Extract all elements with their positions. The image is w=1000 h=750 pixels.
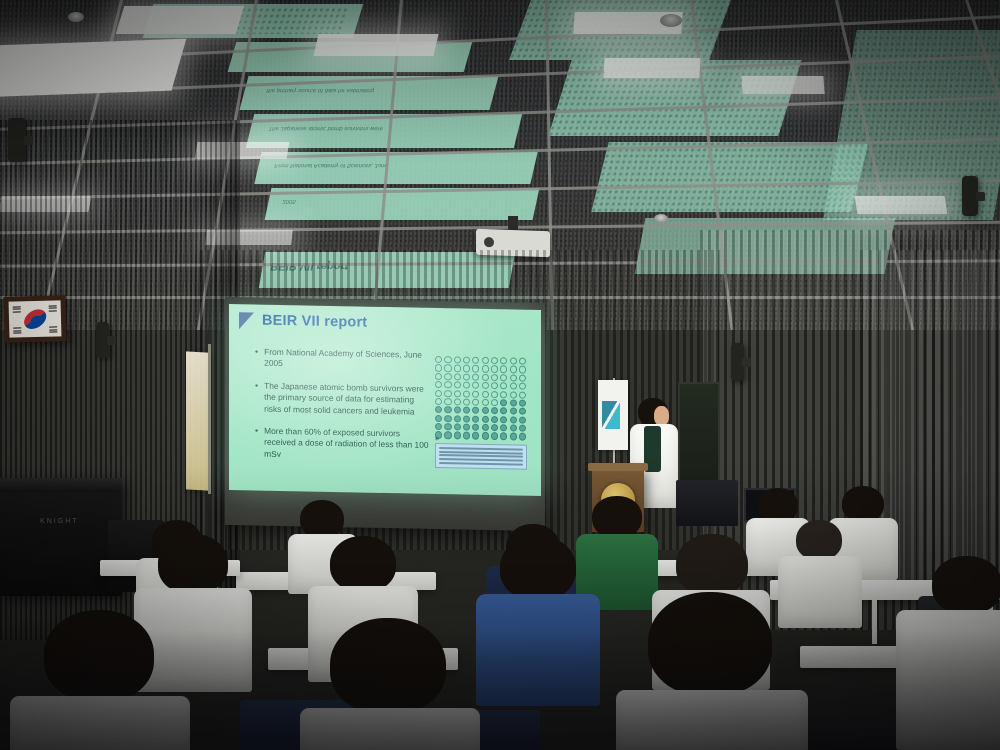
podium-flag: [598, 380, 628, 450]
figure-dot-open: [491, 357, 498, 364]
figure-dot-open: [444, 373, 451, 380]
trigram-bottom-right: [49, 327, 57, 332]
bullet-marker: •: [255, 347, 258, 370]
figure-dot-filled: [463, 415, 470, 422]
figure-dot-open: [510, 383, 517, 390]
bullet-text: From National Academy of Sciences, June …: [264, 347, 430, 373]
audience-head: [758, 488, 798, 522]
figure-dot-filled: [435, 406, 442, 413]
figure-dot-open: [454, 398, 461, 405]
figure-dot-open: [491, 374, 498, 381]
figure-dot-open: [491, 391, 498, 398]
av-equipment-rack: [676, 480, 738, 526]
presenter-face: [654, 406, 669, 426]
figure-dot-filled: [472, 415, 479, 422]
audience-torso: [616, 690, 808, 750]
figure-dot-filled: [500, 433, 507, 440]
audience-head: [796, 520, 842, 560]
figure-dot-open: [491, 382, 498, 389]
figure-dot-open: [519, 358, 526, 365]
figure-dot-open: [454, 356, 461, 363]
figure-dot-filled: [482, 424, 489, 431]
figure-dot-open: [435, 389, 442, 396]
bullet-text: The Japanese atomic bomb survivors were …: [264, 380, 430, 417]
figure-dot-open: [500, 357, 507, 364]
piano-lid: [0, 478, 122, 492]
ceiling-light-panel-1: [0, 39, 186, 98]
ceiling-light-panel-7: [855, 196, 948, 214]
figure-dot-filled: [510, 408, 517, 415]
figure-dot-open: [463, 356, 470, 363]
banner-pole: [208, 344, 211, 494]
audience-head: [592, 496, 642, 538]
ceiling-light-panel-2: [116, 6, 245, 34]
figure-dot-open: [482, 390, 489, 397]
figure-dot-filled: [500, 399, 507, 406]
figure-dot-filled: [472, 407, 479, 414]
figure-dot-open: [491, 365, 498, 372]
figure-dot-filled: [454, 415, 461, 422]
figure-dot-filled: [510, 416, 517, 423]
figure-dot-filled: [482, 407, 489, 414]
figure-dot-open: [454, 381, 461, 388]
figure-dot-filled: [519, 408, 526, 415]
slide-bullet-item: • From National Academy of Sciences, Jun…: [255, 347, 430, 373]
audience-torso: [10, 696, 190, 750]
figure-dot-open: [444, 398, 451, 405]
figure-dot-open: [500, 374, 507, 381]
figure-dot-open: [510, 366, 517, 373]
reflection-text-3: From National Academy of Sciences, June: [274, 161, 389, 169]
slide-bullet-item: • More than 60% of exposed survivors rec…: [255, 426, 430, 464]
figure-dot-open: [463, 398, 470, 405]
figure-dot-filled: [472, 424, 479, 431]
reflection-text-4: 2005: [282, 197, 297, 205]
figure-dot-open: [519, 383, 526, 390]
slide-bullet-list: • From National Academy of Sciences, Jun…: [255, 347, 430, 475]
audience-head: [500, 536, 576, 600]
dot-matrix-figure: ✶: [435, 356, 527, 470]
audience-head: [44, 610, 154, 702]
figure-dot-open: [435, 364, 442, 371]
figure-dot-filled: [500, 416, 507, 423]
figure-dot-filled: [510, 433, 517, 440]
figure-dot-open: [463, 390, 470, 397]
reflection-text-1: the primary source of data for estimatin…: [266, 86, 376, 94]
bullet-text: More than 60% of exposed survivors recei…: [264, 426, 430, 463]
slide-triangle-accent: [239, 312, 254, 329]
figure-dot-open: [472, 357, 479, 364]
figure-dot-open: [482, 382, 489, 389]
slide-bullet-item: • The Japanese atomic bomb survivors wer…: [255, 380, 430, 418]
figure-dot-open: [435, 356, 442, 363]
wall-speaker-right: [731, 343, 744, 381]
figure-dot-open: [454, 365, 461, 372]
audience-torso: [476, 594, 600, 706]
figure-dot-open: [519, 391, 526, 398]
trigram-bottom-left: [13, 328, 21, 333]
figure-dot-open: [482, 374, 489, 381]
upright-piano: KNIGHT: [0, 478, 122, 596]
figure-dot-filled: [482, 432, 489, 439]
figure-dot-filled: [463, 407, 470, 414]
audience-head: [330, 618, 446, 714]
figure-dot-filled: [491, 424, 498, 431]
podium-surface: [588, 463, 648, 471]
figure-dot-filled: [472, 432, 479, 439]
figure-dot-open: [519, 366, 526, 373]
figure-dot-open: [444, 390, 451, 397]
figure-dot-filled: [444, 432, 451, 439]
figure-dot-open: [519, 374, 526, 381]
lecture-hall-scene: the primary source of data for estimatin…: [0, 0, 1000, 750]
audience-torso: [896, 610, 1000, 750]
figure-dot-open: [482, 399, 489, 406]
desk-leg: [872, 600, 877, 644]
taeguk-symbol: [20, 305, 49, 332]
projector-lens: [484, 237, 494, 247]
figure-dot-filled: [519, 433, 526, 440]
trigram-top-left: [12, 306, 20, 311]
figure-dot-filled: [519, 416, 526, 423]
projected-slide: BEIR VII report • From National Academy …: [229, 304, 541, 496]
figure-dot-open: [444, 381, 451, 388]
figure-dot-open: [454, 390, 461, 397]
audience-head: [300, 500, 344, 538]
figure-dot-open: [435, 381, 442, 388]
figure-dot-open: [472, 399, 479, 406]
figure-caption-box: [435, 443, 527, 470]
figure-dot-filled: [454, 432, 461, 439]
ceiling-light-panel-5: [603, 58, 700, 78]
figure-dot-filled: [500, 424, 507, 431]
figure-dot-filled: [454, 423, 461, 430]
figure-dot-filled: [482, 415, 489, 422]
figure-dot-open: [500, 391, 507, 398]
figure-dot-open: [472, 382, 479, 389]
wall-speaker-far-right: [962, 176, 978, 216]
sprinkler-head-2: [660, 14, 682, 27]
wall-speaker-corner: [8, 118, 26, 162]
figure-dot-filled: [519, 399, 526, 406]
figure-dot-open: [472, 373, 479, 380]
korean-flag: [9, 300, 62, 337]
figure-dot-filled: [500, 407, 507, 414]
figure-dot-open: [454, 373, 461, 380]
figure-dot-filled: [491, 432, 498, 439]
figure-dot-filled: [491, 416, 498, 423]
ceiling-light-panel-6: [741, 76, 824, 94]
ceiling-light-panel-3: [313, 34, 438, 56]
figure-dot-filled: [491, 407, 498, 414]
audience-torso: [134, 588, 252, 692]
audience-head: [158, 534, 228, 594]
sprinkler-head: [68, 12, 84, 22]
audience-head: [842, 486, 884, 522]
figure-dot-open: [435, 373, 442, 380]
figure-dot-open: [472, 365, 479, 372]
figure-star-marker: ✶: [434, 435, 440, 443]
figure-dot-open: [444, 356, 451, 363]
figure-dot-open: [510, 374, 517, 381]
vertical-banner: [186, 351, 208, 490]
figure-dot-filled: [444, 423, 451, 430]
figure-dot-filled: [510, 424, 517, 431]
figure-dot-filled: [444, 415, 451, 422]
figure-dot-open: [491, 399, 498, 406]
audience-head: [932, 556, 1000, 614]
figure-dot-filled: [510, 399, 517, 406]
korean-flag-frame: [3, 295, 66, 343]
trigram-top-right: [49, 305, 57, 310]
podium-flag-emblem: [602, 401, 620, 429]
figure-dot-filled: [444, 406, 451, 413]
figure-dot-filled: [454, 407, 461, 414]
figure-dot-open: [500, 366, 507, 373]
figure-dot-open: [463, 373, 470, 380]
piano-brand-label: KNIGHT: [40, 518, 78, 525]
figure-dot-open: [482, 365, 489, 372]
audience-torso: [300, 708, 480, 750]
figure-dot-filled: [463, 423, 470, 430]
figure-dot-open: [463, 365, 470, 372]
figure-dot-open: [435, 398, 442, 405]
figure-dot-open: [510, 357, 517, 364]
reflection-text-2: The Japanese atomic bomb survivors were: [268, 124, 384, 132]
figure-dot-open: [472, 390, 479, 397]
audience-head: [676, 534, 748, 596]
sprinkler-head-3: [654, 214, 668, 223]
audience-torso: [778, 556, 862, 628]
bullet-marker: •: [255, 380, 258, 414]
figure-dot-filled: [463, 432, 470, 439]
figure-dot-open: [500, 382, 507, 389]
figure-dot-open: [482, 357, 489, 364]
audience-head: [648, 592, 772, 696]
figure-dot-filled: [435, 415, 442, 422]
figure-dot-open: [444, 365, 451, 372]
slide-title: BEIR VII report: [262, 313, 367, 331]
wall-speaker-left: [96, 322, 109, 358]
audience-head: [330, 536, 396, 592]
figure-dot-open: [463, 382, 470, 389]
bullet-marker: •: [255, 426, 258, 460]
figure-dot-open: [510, 391, 517, 398]
figure-dot-filled: [519, 425, 526, 432]
dot-matrix-grid: [435, 356, 527, 440]
figure-dot-filled: [435, 423, 442, 430]
